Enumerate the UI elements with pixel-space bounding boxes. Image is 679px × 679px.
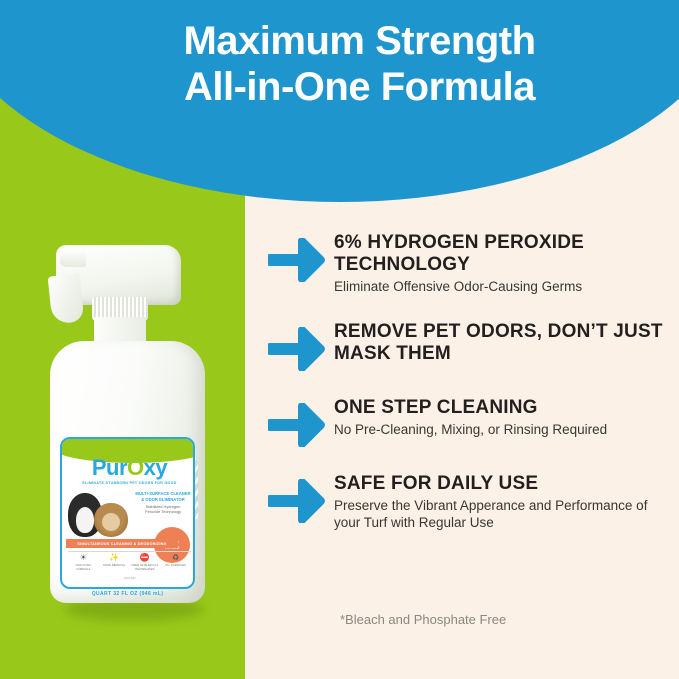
infographic-canvas: Maximum Strength All-in-One Formula PurO… (0, 0, 679, 679)
benefit-caption: STAIN REMOVAL (100, 564, 128, 568)
sun-icon: ☀ (69, 554, 97, 562)
bottle-volume-text: QUART 32 FL OZ (946 mL) (50, 591, 205, 597)
benefit-caption: NON-TOXIC FORMULA (69, 564, 97, 571)
benefit-icon-cell: ⛔ FREE OF BLEACH & PHOSPHATES (131, 554, 159, 571)
feature-text: REMOVE PET ODORS, DON’T JUST MASK THEM (330, 321, 668, 367)
product-label: PurOxy ELIMINATE STUBBORN PET ODORS FOR … (60, 437, 195, 589)
feature-item: SAFE FOR DAILY USE Preserve the Vibrant … (268, 473, 668, 531)
feature-title: ONE STEP CLEANING (334, 397, 668, 419)
label-benefit-icons: ☀ NON-TOXIC FORMULA ✨ STAIN REMOVAL ⛔ FR… (68, 551, 191, 577)
feature-list: 6% HYDROGEN PEROXIDE TECHNOLOGY Eliminat… (268, 232, 668, 557)
product-bottle: PurOxy ELIMINATE STUBBORN PET ODORS FOR … (44, 245, 214, 620)
benefit-caption: FREE OF BLEACH & PHOSPHATES (131, 564, 159, 571)
feature-text: ONE STEP CLEANING No Pre-Cleaning, Mixin… (330, 397, 668, 438)
feature-item: 6% HYDROGEN PEROXIDE TECHNOLOGY Eliminat… (268, 232, 668, 295)
page-title: Maximum Strength All-in-One Formula (0, 18, 679, 110)
benefit-icon-cell: ✨ STAIN REMOVAL (100, 554, 128, 568)
logo-pre: Pur (92, 455, 127, 480)
feature-subtitle: Preserve the Vibrant Apperance and Perfo… (334, 497, 668, 532)
cat-face (102, 513, 120, 531)
no-bleach-icon: ⛔ (131, 554, 159, 562)
headline-line-2: All-in-One Formula (40, 64, 679, 110)
cat-image (94, 503, 128, 537)
feature-title: 6% HYDROGEN PEROXIDE TECHNOLOGY (334, 232, 668, 276)
feature-text: SAFE FOR DAILY USE Preserve the Vibrant … (330, 473, 668, 531)
benefit-caption: ALL SURFACES (162, 564, 190, 568)
trigger-lever (48, 273, 85, 324)
label-desc-sub-2: Peroxide Technology (132, 509, 194, 515)
nozzle-icon (60, 251, 86, 267)
feature-title: REMOVE PET ODORS, DON’T JUST MASK THEM (334, 321, 668, 365)
headline-line-1: Maximum Strength (183, 19, 535, 63)
feature-title: SAFE FOR DAILY USE (334, 473, 668, 495)
label-caution-text: CAUTION (62, 577, 195, 580)
feature-item: REMOVE PET ODORS, DON’T JUST MASK THEM (268, 321, 668, 371)
label-description: MULTI-SURFACE CLEANER & ODOR ELIMINATOR … (132, 491, 194, 515)
pet-photo (68, 489, 130, 537)
arrow-right-icon (268, 232, 330, 282)
surfaces-icon: ♻ (162, 554, 190, 562)
label-tagline: ELIMINATE STUBBORN PET ODORS FOR GOOD (62, 481, 195, 485)
label-desc-line-2: & ODOR ELIMINATOR (132, 497, 194, 503)
label-orange-band: SIMULTANEOUS CLEANING & DEODORIZING (66, 539, 178, 548)
feature-subtitle: Eliminate Offensive Odor-Causing Germs (334, 278, 668, 295)
benefit-icon-cell: ☀ NON-TOXIC FORMULA (69, 554, 97, 571)
arrow-right-icon (268, 321, 330, 371)
logo-post: xy (144, 455, 167, 480)
feature-item: ONE STEP CLEANING No Pre-Cleaning, Mixin… (268, 397, 668, 447)
feature-text: 6% HYDROGEN PEROXIDE TECHNOLOGY Eliminat… (330, 232, 668, 295)
arrow-right-icon (268, 397, 330, 447)
brand-logo: PurOxy (62, 455, 195, 481)
footnote-text: *Bleach and Phosphate Free (340, 612, 506, 627)
arrow-right-icon (268, 473, 330, 523)
feature-subtitle: No Pre-Cleaning, Mixing, or Rinsing Requ… (334, 421, 668, 438)
sparkle-icon: ✨ (100, 554, 128, 562)
dog-face (76, 507, 94, 533)
logo-paw-o-icon: O (127, 455, 144, 480)
benefit-icon-cell: ♻ ALL SURFACES (162, 554, 190, 568)
